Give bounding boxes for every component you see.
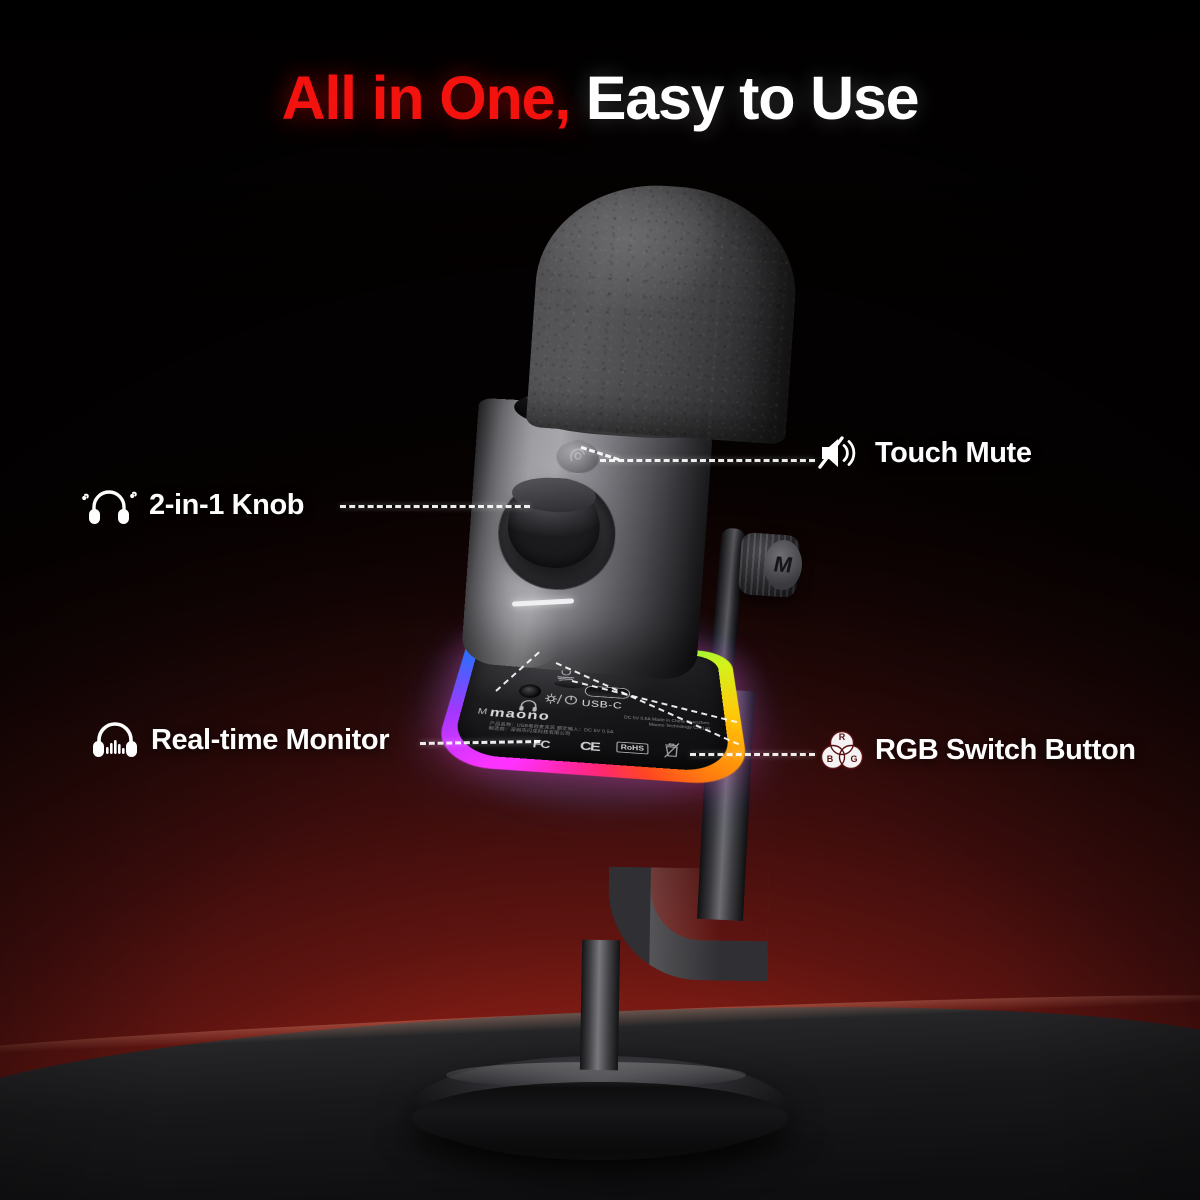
- callout-knob: 2-in-1 Knob: [80, 483, 304, 527]
- touch-sensor-icon: [561, 442, 595, 472]
- stand-lower-post: [580, 940, 620, 1071]
- rgb-venn-icon: R B G: [820, 729, 864, 771]
- ce-mark: CE: [579, 739, 599, 754]
- svg-text:G: G: [850, 754, 857, 764]
- callout-mute-label: Touch Mute: [875, 437, 1032, 470]
- callout-knob-label: 2-in-1 Knob: [149, 489, 304, 522]
- callout-mute: Touch Mute: [818, 433, 1032, 473]
- callout-rgb: R B G RGB Switch Button: [820, 729, 1136, 771]
- svg-text:B: B: [827, 754, 834, 764]
- stand-base-rim: [412, 1082, 788, 1154]
- callout-rgb-label: RGB Switch Button: [875, 734, 1136, 767]
- speaker-muted-icon: [818, 433, 864, 473]
- headphones-music-icon: [80, 483, 138, 527]
- maono-m-logo: M: [771, 552, 795, 579]
- rohs-mark: RoHS: [616, 742, 648, 755]
- mic-foam-head: [526, 177, 803, 445]
- usb-c-port-label: USB-C: [581, 698, 622, 711]
- headphone-jack-port[interactable]: [518, 684, 542, 699]
- foam-texture: [526, 177, 803, 445]
- leader-line-knob: [340, 505, 530, 508]
- headphones-waveform-icon: [90, 719, 140, 761]
- svg-text:R: R: [839, 732, 846, 742]
- weee-bin-icon: [663, 742, 681, 760]
- maono-mark-small: M: [477, 707, 489, 717]
- leader-line-mute: [600, 459, 815, 462]
- callout-monitor: Real-time Monitor: [90, 719, 389, 761]
- product-feature-image: All in One, Easy to Use M: [0, 0, 1200, 1200]
- leader-line-rgb: [690, 753, 815, 756]
- microphone-product: M USB-C: [0, 0, 1200, 1200]
- legal-text-cn: 产品名称：USB电容麦克风 额定输入：DC 5V 0.5A 制造商：深圳市闪克科…: [488, 721, 615, 739]
- callout-monitor-label: Real-time Monitor: [151, 724, 389, 757]
